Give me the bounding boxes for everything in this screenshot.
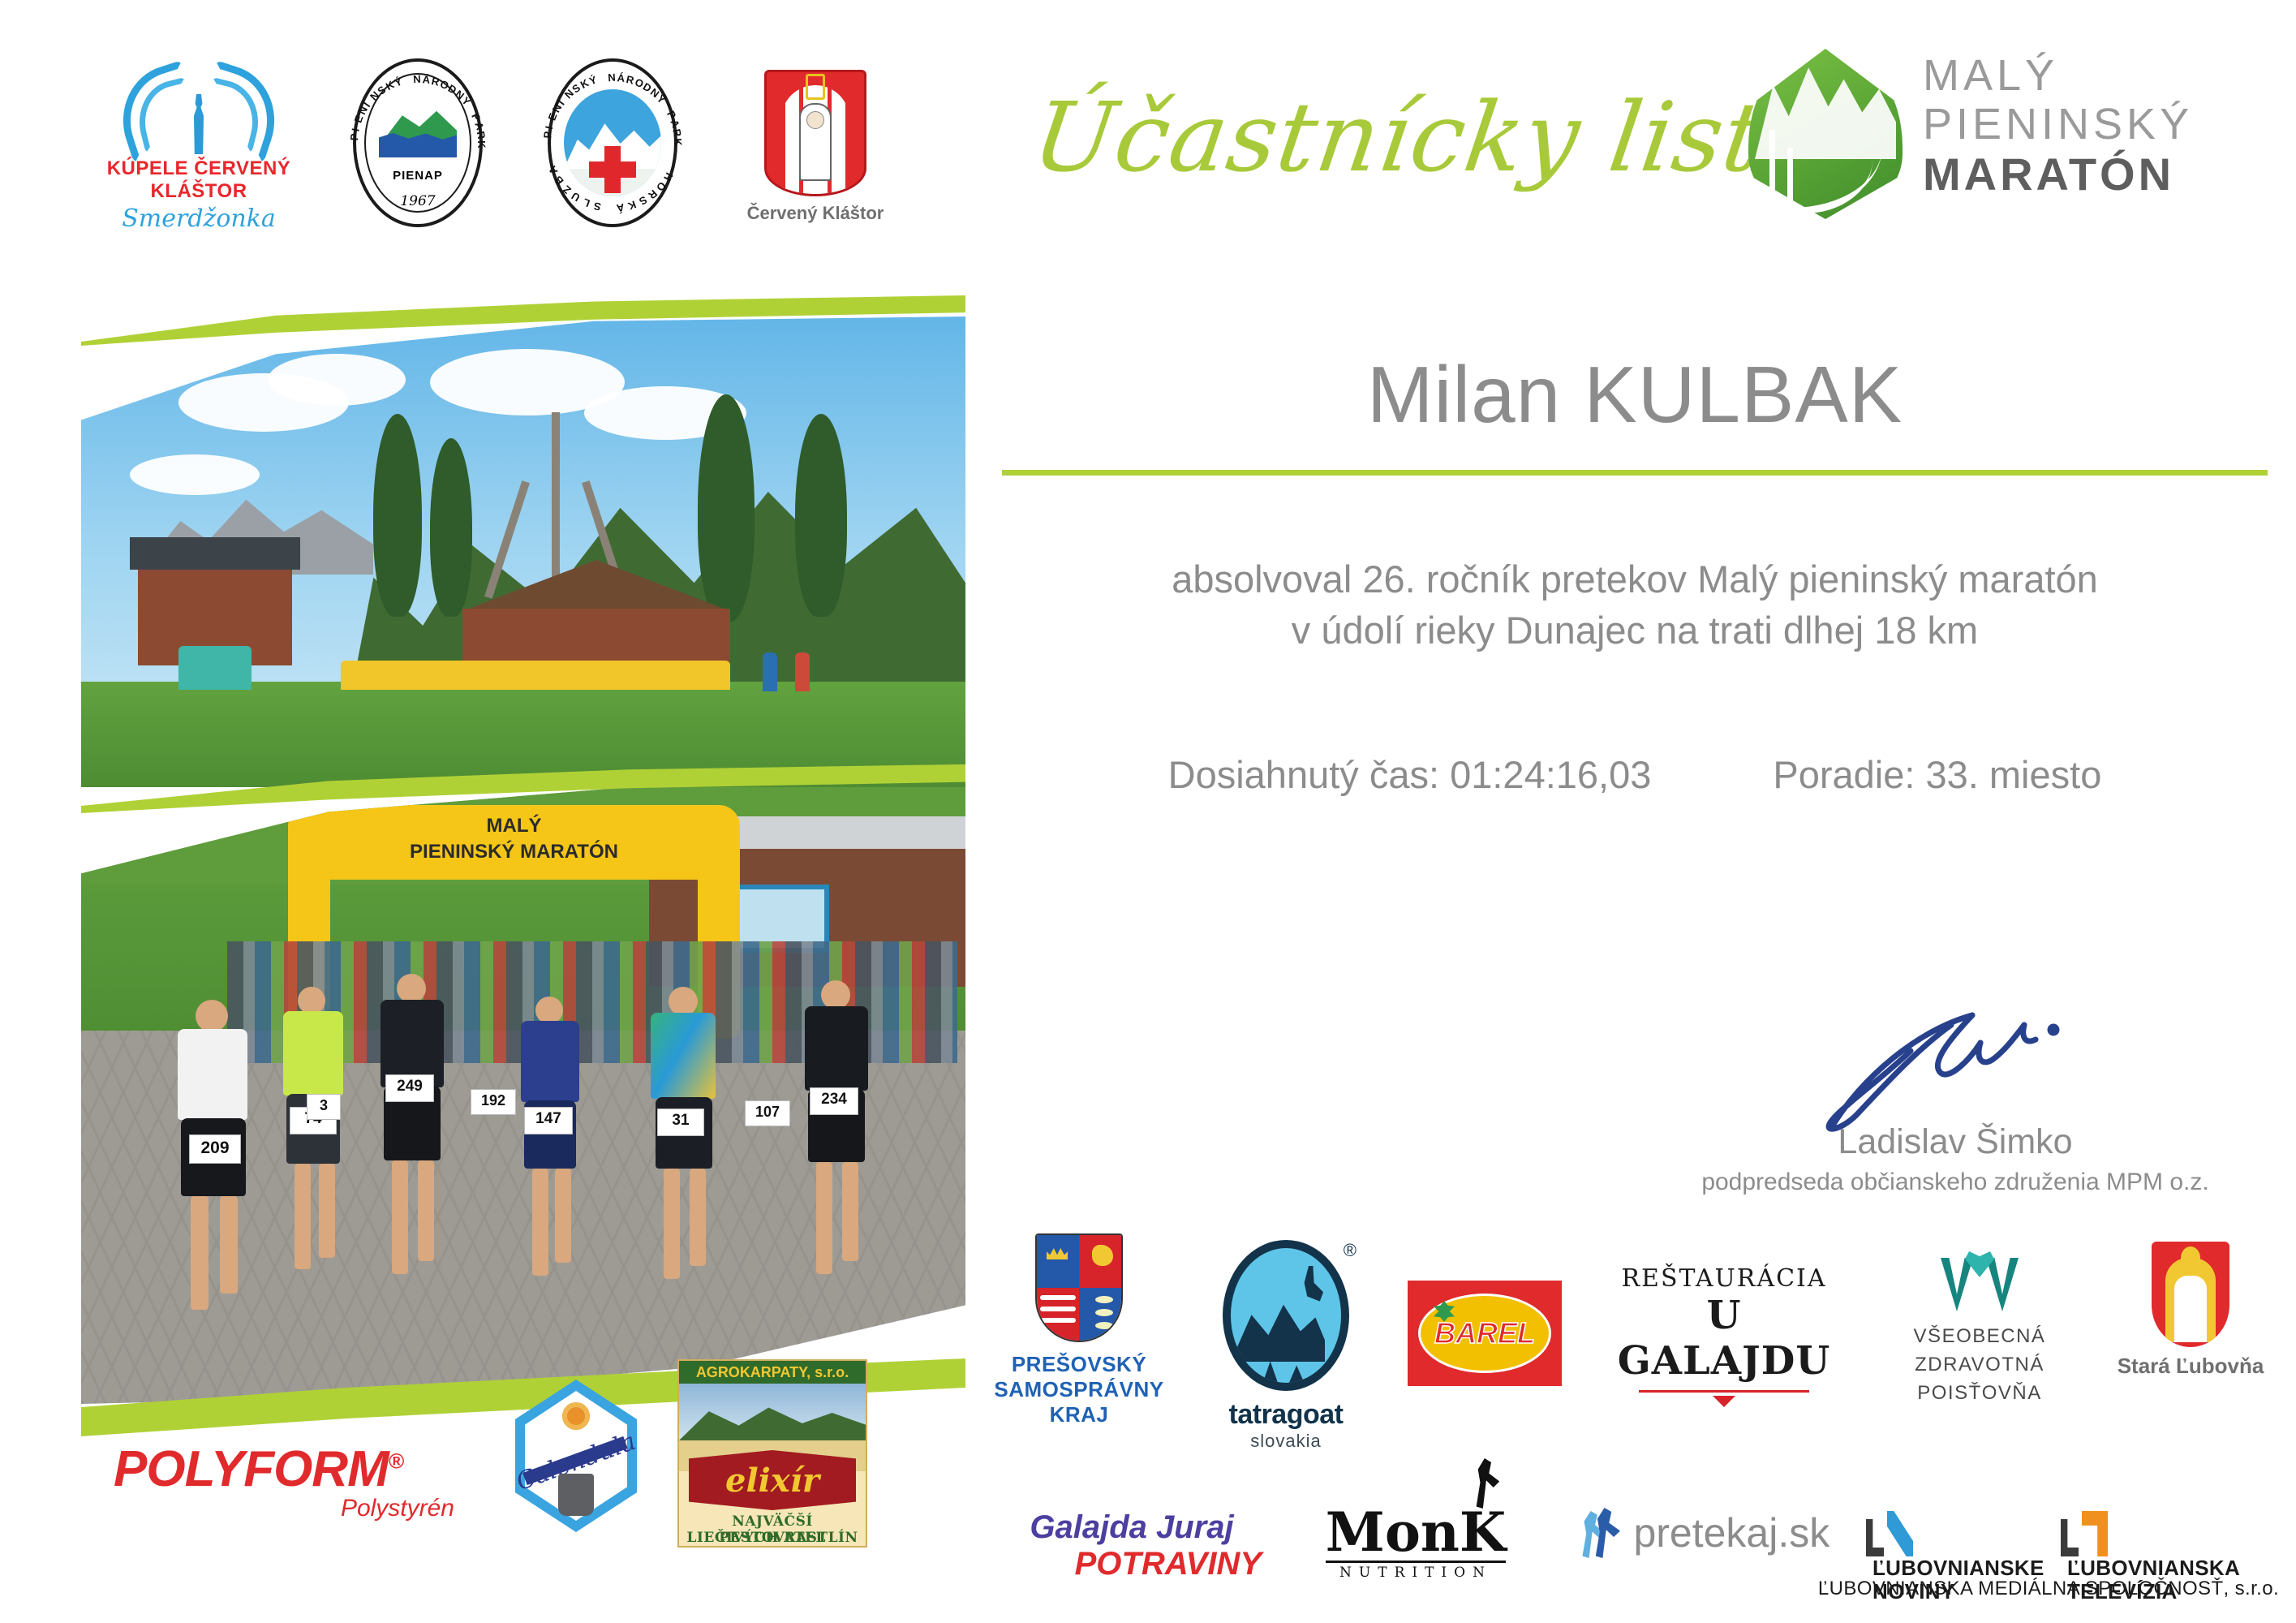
galajda-line-1: Galajda Juraj [1002,1509,1262,1546]
monk-name: MonK [1326,1505,1506,1559]
lt-monogram-icon [2061,1511,2108,1556]
sponsor-presovsky-kraj: PREŠOVSKÝ SAMOSPRÁVNY KRAJ [986,1233,1172,1428]
arch-text-line1: MALÝ [288,815,740,837]
pienap-mark-label: PIENAP [379,169,457,183]
photo-collage: MALÝ PIENINSKÝ MARATÓN 209 74 249 [81,268,965,1420]
bib-number: 107 [745,1100,790,1126]
participant-name: Milan KULBAK [1002,349,2268,441]
sponsor-pretekaj-sk: pretekaj.sk [1578,1508,1854,1558]
cerveny-klastor-crest-icon [764,70,866,196]
ornament-diamond-icon [1713,1396,1735,1419]
media-company-label: ĽUBOVNIANSKA MEDIÁLNA SPOLOČNOSŤ, s.r.o. [1817,1566,2280,1600]
leaf-mountain-icon [1748,49,1903,219]
bib-number: 192 [471,1089,516,1115]
polyform-reg: ® [389,1449,403,1473]
certificate-line-1: absolvoval 26. ročník pretekov Malý pien… [1002,553,2268,605]
sponsor-monk-nutrition: MonK NUTRITION [1298,1505,1533,1581]
bib-number: 31 [657,1109,704,1136]
accent-divider [1002,470,2268,476]
logo-kupele-cerveny-klastor: KÚPELE ČERVENÝ KLÁŠTOR Smerdžonka [81,65,316,233]
monk-sub: NUTRITION [1326,1565,1506,1581]
barel-logo-icon: BAREL [1408,1281,1562,1386]
logo-horska-sluzba: PIENINSKÝ NÁRODNÝ PARK HORSKÁ SLUŽBA [535,58,690,227]
brand-line-2: PIENINSKÝ [1923,100,2193,149]
pienap-oval-icon: PIENINSKÝ NÁRODNÝ PARK PIENAP 1967 [353,58,483,227]
sponsor-galajda-juraj: Galajda Juraj POTRAVINY [1002,1509,1262,1582]
pienap-year: 1967 [353,193,483,209]
certificate-body: Milan KULBAK absolvoval 26. ročník prete… [1002,349,2268,797]
psk-line-2: SAMOSPRÁVNY [986,1377,1172,1402]
agrokarpaty-line-2: LIEČIVÝCH RASTLÍN [679,1530,866,1546]
bib-number: 209 [189,1134,241,1164]
cerveny-klastor-label: Červený Kláštor [722,203,909,224]
stara-lubovna-crest-icon [2152,1242,2229,1347]
ornament-rule [1639,1390,1809,1393]
bib-number: 234 [810,1087,858,1115]
bib-number: 249 [385,1074,434,1102]
sponsor-u-galajdu: REŠTAURÁCIA U GALAJDU [1602,1264,1846,1419]
brand-line-1: MALÝ [1923,51,2193,100]
brand-line-3: MARATÓN [1923,149,2193,200]
ln-monogram-icon [1866,1511,1913,1556]
kupele-subtitle: Smerdžonka [81,204,316,233]
sponsor-vzp: VŠEOBECNÁ ZDRAVOTNÁ POISŤOVŇA [1886,1250,2073,1407]
agrokarpaty-name: elixír [725,1462,819,1500]
sponsor-calendula: Calendula [499,1380,653,1532]
psk-line-1: PREŠOVSKÝ [986,1352,1172,1377]
tatragoat-name: tatragoat [1193,1399,1379,1431]
kupele-title: KÚPELE ČERVENÝ KLÁŠTOR [81,157,316,203]
galajdu-top-text: REŠTAURÁCIA [1602,1264,1846,1293]
signature-block: Ladislav Šimko podpredseda občianskeho z… [1627,1002,2284,1196]
tatragoat-emblem-icon [1223,1240,1349,1391]
pretekaj-name: pretekaj.sk [1633,1510,1829,1556]
logo-pienap: PIENINSKÝ NÁRODNÝ PARK PIENAP 1967 [341,58,495,227]
vzp-line-2: ZDRAVOTNÁ [1886,1351,2073,1380]
photo-festival-area [81,316,965,787]
psk-coat-of-arms-icon [1035,1233,1123,1342]
finish-time: Dosiahnutý čas: 01:24:16,03 [1168,752,1652,797]
galajda-line-2: POTRAVINY [1002,1546,1262,1582]
arch-text-line2: PIENINSKÝ MARATÓN [288,841,740,863]
tatragoat-sub: slovakia [1193,1431,1379,1452]
polyform-word: POLYFORM [114,1441,389,1497]
galajdu-main-text: U GALAJDU [1602,1293,1846,1384]
polyform-name: POLYFORM® [114,1440,454,1498]
kupele-wings-icon [118,65,280,154]
vzp-line-1: VŠEOBECNÁ [1886,1323,2073,1351]
handwritten-signature-icon [1627,1002,2284,1132]
calendula-hex-icon: Calendula [515,1380,637,1532]
rank-placement: Poradie: 33. miesto [1773,752,2101,797]
logo-cerveny-klastor: Červený Kláštor [722,70,909,224]
bib-number: 3 [307,1094,341,1120]
sponsor-agrokarpaty: AGROKARPATY, s.r.o. PLAVNICA elixír NAJV… [677,1359,872,1548]
brand-logo: MALÝ PIENINSKÝ MARATÓN [1748,45,2284,223]
vzp-vv-icon [1941,1250,2019,1311]
barel-name: BAREL [1434,1316,1535,1350]
runners-icon [1578,1508,1623,1558]
stara-lubovna-label: Stará Ľubovňa [2097,1354,2284,1379]
bib-number: 147 [524,1107,573,1134]
sponsor-polyform: POLYFORM® Polystyrén [114,1440,454,1522]
photo-race-start: MALÝ PIENINSKÝ MARATÓN 209 74 249 [81,787,965,1404]
sponsor-barel: BAREL [1400,1281,1570,1386]
vzp-line-3: POISŤOVŇA [1886,1380,2073,1408]
page-title: Účastnícky list [1034,81,1763,193]
psk-line-3: KRAJ [986,1402,1172,1427]
horska-sluzba-oval-icon: PIENINSKÝ NÁRODNÝ PARK HORSKÁ SLUŽBA [548,58,677,227]
registered-mark: ® [1344,1240,1357,1261]
polyform-sub: Polystyrén [114,1495,454,1522]
signatory-role: podpredseda občianskeho združenia MPM o.… [1627,1169,2284,1196]
page-title-text: Účastnícky list [1026,81,1770,193]
media-company-text: ĽUBOVNIANSKA MEDIÁLNA SPOLOČNOSŤ, s.r.o. [1817,1578,2280,1600]
sponsor-tatragoat: ® tatragoat slovakia [1193,1240,1379,1452]
header-partner-logos: KÚPELE ČERVENÝ KLÁŠTOR Smerdžonka PIENIN… [81,65,941,219]
sponsor-stara-lubovna: Stará Ľubovňa [2097,1242,2284,1379]
agrokarpaty-label-icon: AGROKARPATY, s.r.o. PLAVNICA elixír NAJV… [677,1359,867,1548]
certificate-line-2: v údolí rieky Dunajec na trati dlhej 18 … [1002,605,2268,656]
